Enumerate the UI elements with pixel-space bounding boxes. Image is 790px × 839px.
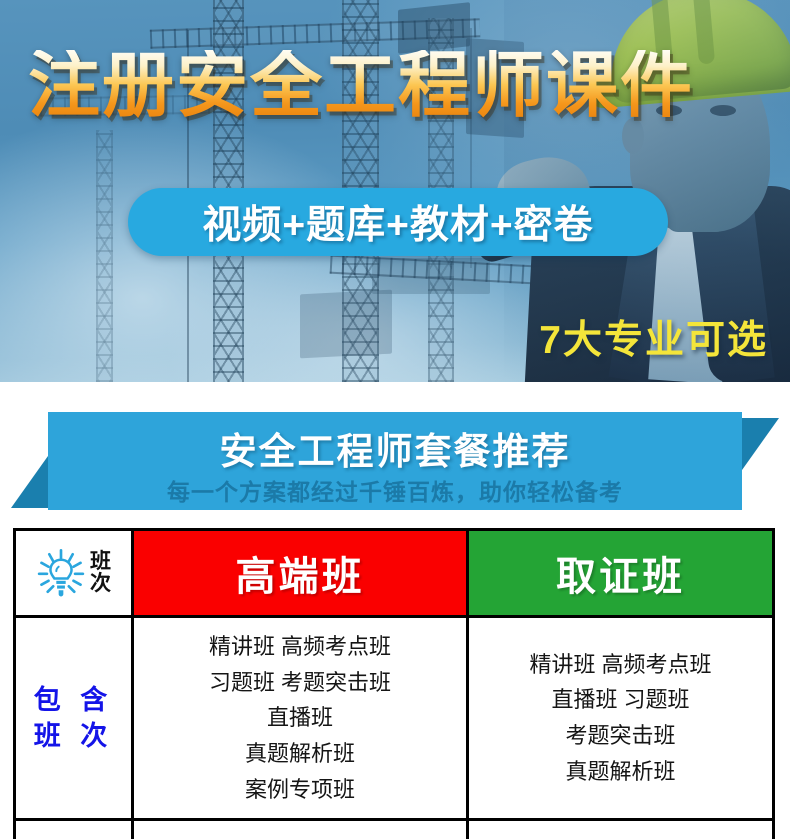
list-item: 案例专项班 [135,772,465,808]
hero-feature-pill-label: 视频+题库+教材+密卷 [202,194,593,250]
hero-banner: 注册安全工程师课件 视频+题库+教材+密卷 7大专业可选 [0,0,790,382]
ribbon-body: 安全工程师套餐推荐 每一个方案都经过千锤百炼，助你轻松备考 [48,412,742,510]
list-item: 习题班 考题突击班 [135,665,465,701]
list-item: 真题解析班 [135,736,465,772]
plan-comparison-table: 班次 高端班 取证班 包 含班 次 精讲班 高频考点班 习题班 考题突击班 [13,528,775,839]
list-item: 直播班 [135,700,465,736]
table-row-validity: 4个考期内 课程有效期： [15,820,774,839]
list-item: 真题解析班 [470,754,771,790]
list-item: 直播班 习题班 [470,682,771,718]
lightbulb-icon [36,548,86,598]
hero-feature-pill[interactable]: 视频+题库+教材+密卷 [128,188,668,256]
header-category-label: 班次 [90,551,111,595]
list-item: 考题突击班 [470,718,771,754]
validity-cert-text: 课程有效期： [470,822,771,839]
ribbon-subtitle: 每一个方案都经过千锤百炼，助你轻松备考 [48,473,742,507]
hero-title: 注册安全工程师课件 [28,50,766,122]
class-list-high: 精讲班 高频考点班 习题班 考题突击班 直播班 真题解析班 案例专项班 [135,619,465,817]
table-header-row: 班次 高端班 取证班 [15,530,774,617]
header-cell-plan-high[interactable]: 高端班 [133,530,468,617]
row-label-text: 包 含班 次 [17,682,130,755]
cell-high-included: 精讲班 高频考点班 习题班 考题突击班 直播班 真题解析班 案例专项班 [133,617,468,820]
plan-high-label: 高端班 [236,555,365,599]
row-label-included: 包 含班 次 [15,617,133,820]
list-item: 精讲班 高频考点班 [135,629,465,665]
section-ribbon: 安全工程师套餐推荐 每一个方案都经过千锤百炼，助你轻松备考 [0,412,790,522]
hero-subtitle: 7大专业可选 [539,309,768,365]
header-cell-plan-cert[interactable]: 取证班 [468,530,774,617]
crane-mast [96,130,113,382]
cell-cert-validity: 课程有效期： [468,820,774,839]
table-row-included-classes: 包 含班 次 精讲班 高频考点班 习题班 考题突击班 直播班 真题解析班 案例专… [15,617,774,820]
validity-high-text: 4个考期内 [135,822,465,839]
crane-block [300,290,392,359]
cell-cert-included: 精讲班 高频考点班 直播班 习题班 考题突击班 真题解析班 [468,617,774,820]
list-item: 精讲班 高频考点班 [470,647,771,683]
header-cell-category: 班次 [15,530,133,617]
plan-cert-label: 取证班 [556,555,685,599]
class-list-cert: 精讲班 高频考点班 直播班 习题班 考题突击班 真题解析班 [470,637,771,800]
cell-high-validity: 4个考期内 [133,820,468,839]
row-label-validity [15,820,133,839]
promo-page: 注册安全工程师课件 视频+题库+教材+密卷 7大专业可选 安全工程师套餐推荐 每… [0,0,790,839]
ribbon-title: 安全工程师套餐推荐 [48,421,742,475]
